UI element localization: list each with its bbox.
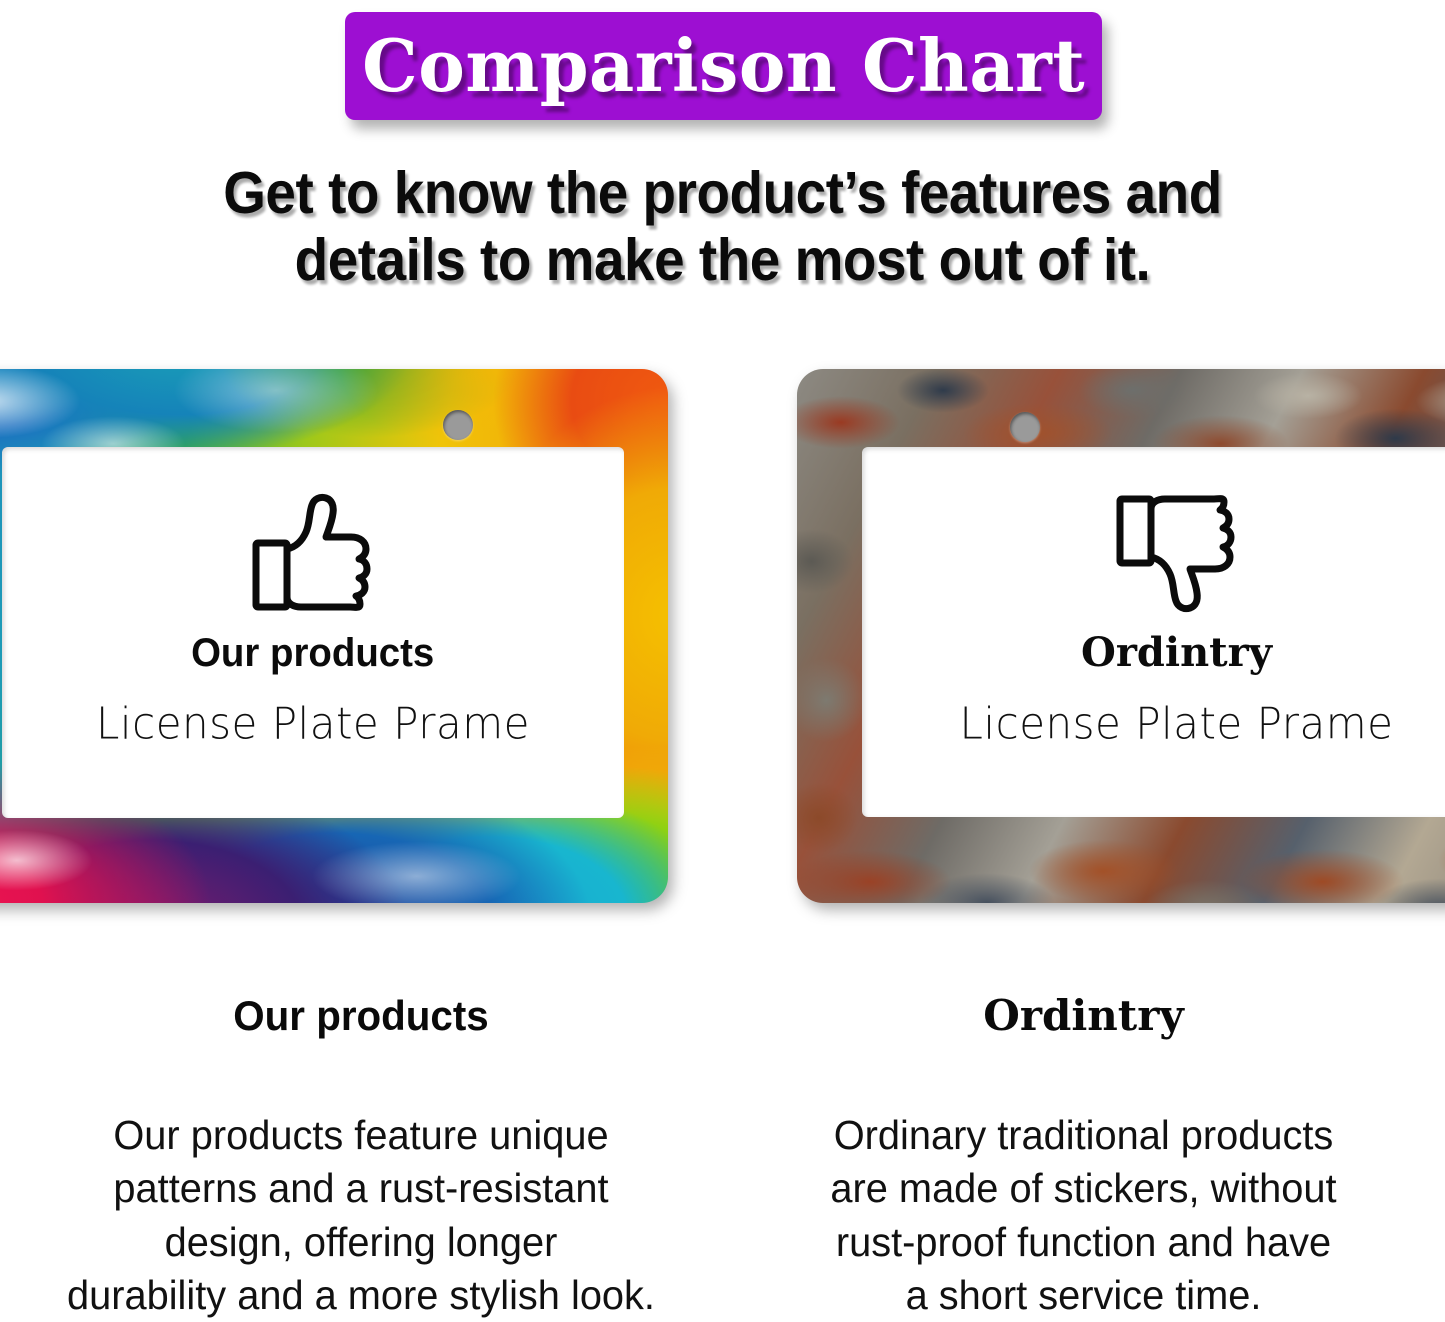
plate-sublabel-right: License Plate Prame (960, 702, 1394, 746)
page-subtitle: Get to know the product’s features and d… (51, 160, 1395, 293)
plate-sublabel-left: License Plate Prame (96, 702, 530, 746)
our-products-description-column: Our products Our products feature unique… (0, 995, 722, 1322)
page-title: Comparison Chart (362, 30, 1085, 102)
column-body-right: Ordinary traditional products are made o… (733, 1109, 1434, 1322)
ordinary-products-description-column: Ordintry Ordinary traditional products a… (722, 995, 1445, 1322)
body-line: Our products feature unique (11, 1109, 711, 1162)
plate-window-content-left: Our products License Plate Prame (2, 491, 624, 745)
column-heading-right: Ordintry (722, 995, 1445, 1037)
body-line: rust-proof function and have (733, 1216, 1434, 1269)
column-heading-left: Our products (14, 995, 707, 1037)
comparison-chart-banner: Comparison Chart (345, 12, 1102, 120)
banner-background: Comparison Chart (345, 12, 1102, 120)
plate-label-left: Our products (191, 633, 434, 673)
mounting-hole-icon (443, 410, 473, 440)
thumbs-up-icon (250, 491, 376, 615)
plate-window-left: Our products License Plate Prame (2, 447, 624, 818)
subtitle-line-1: Get to know the product’s features and (51, 160, 1395, 227)
column-body-left: Our products feature unique patterns and… (11, 1109, 711, 1322)
plate-label-right: Ordintry (1081, 633, 1272, 673)
subtitle-line-2: details to make the most out of it. (51, 227, 1395, 294)
body-line: are made of stickers, without (733, 1162, 1434, 1215)
plate-window-right: Ordintry License Plate Prame (862, 447, 1445, 817)
mounting-hole-icon (1010, 412, 1040, 442)
thumbs-down-icon (1114, 491, 1240, 615)
body-line: patterns and a rust-resistant (11, 1162, 711, 1215)
ordinary-product-license-plate-frame: Ordintry License Plate Prame (797, 369, 1445, 903)
body-line: design, offering longer (11, 1216, 711, 1269)
body-line: a short service time. (733, 1269, 1434, 1322)
plate-window-content-right: Ordintry License Plate Prame (862, 491, 1445, 745)
body-line: Ordinary traditional products (733, 1109, 1434, 1162)
body-line: durability and a more stylish look. (11, 1269, 711, 1322)
our-product-license-plate-frame: Our products License Plate Prame (0, 369, 668, 903)
